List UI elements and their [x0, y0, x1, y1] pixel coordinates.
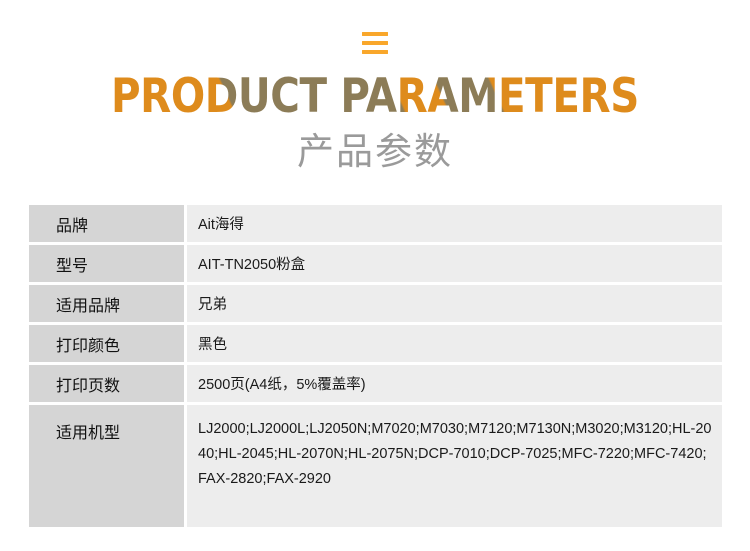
hamburger-icon — [362, 32, 388, 54]
page-title: PRODUCT PARAMETERS — [111, 73, 639, 120]
spec-value-compatible-models: LJ2000;LJ2000L;LJ2050N;M7020;M7030;M7120… — [187, 405, 722, 527]
page-title-wrap: PRODUCT PARAMETERS — [0, 70, 750, 122]
product-parameters-page: PRODUCT PARAMETERS 产品参数 品牌 Ait海得 型号 AIT-… — [0, 0, 750, 551]
hamburger-bar-1 — [362, 32, 388, 36]
spec-label-brand: 品牌 — [29, 205, 184, 242]
table-row: 打印颜色 黑色 — [29, 325, 722, 362]
table-row: 型号 AIT-TN2050粉盒 — [29, 245, 722, 282]
spec-label-compatible-brand: 适用品牌 — [29, 285, 184, 322]
spec-label-print-color: 打印颜色 — [29, 325, 184, 362]
spec-value-compatible-brand: 兄弟 — [187, 285, 722, 322]
spec-label-compatible-models: 适用机型 — [29, 405, 184, 527]
spec-value-brand: Ait海得 — [187, 205, 722, 242]
spec-value-page-yield: 2500页(A4纸，5%覆盖率) — [187, 365, 722, 402]
page-header: PRODUCT PARAMETERS 产品参数 — [0, 0, 750, 173]
spec-table: 品牌 Ait海得 型号 AIT-TN2050粉盒 适用品牌 兄弟 打印颜色 黑色… — [29, 205, 722, 527]
page-subtitle: 产品参数 — [0, 132, 750, 173]
table-row: 适用品牌 兄弟 — [29, 285, 722, 322]
table-row: 品牌 Ait海得 — [29, 205, 722, 242]
spec-label-model: 型号 — [29, 245, 184, 282]
spec-value-model: AIT-TN2050粉盒 — [187, 245, 722, 282]
hamburger-bar-3 — [362, 50, 388, 54]
table-row: 适用机型 LJ2000;LJ2000L;LJ2050N;M7020;M7030;… — [29, 405, 722, 527]
spec-label-page-yield: 打印页数 — [29, 365, 184, 402]
hamburger-bar-2 — [362, 41, 388, 45]
table-row: 打印页数 2500页(A4纸，5%覆盖率) — [29, 365, 722, 402]
spec-value-print-color: 黑色 — [187, 325, 722, 362]
